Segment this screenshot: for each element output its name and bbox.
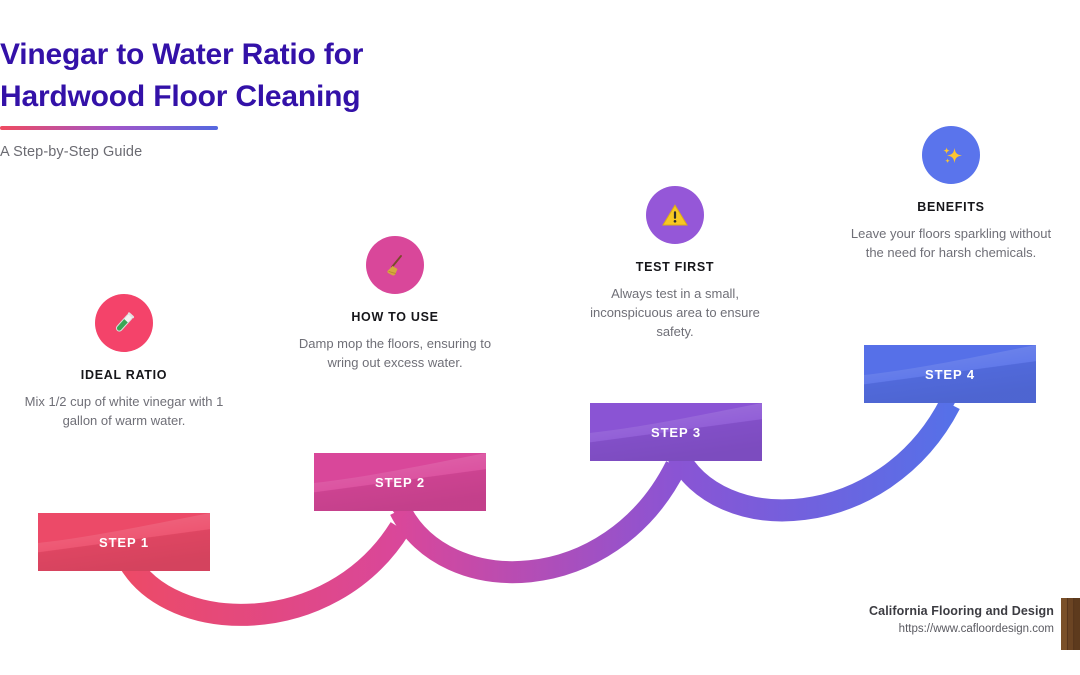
wood-plank-logo	[1058, 595, 1080, 653]
step-banner-3[interactable]: STEP 3	[590, 403, 762, 461]
title-line-2: Hardwood Floor Cleaning	[0, 76, 560, 118]
infographic-canvas: Vinegar to Water Ratio for Hardwood Floo…	[0, 0, 1080, 675]
brand-block: California Flooring and Design https://w…	[869, 604, 1054, 635]
step-banner-2[interactable]: STEP 2	[314, 453, 486, 511]
step-heading-3: TEST FIRST	[560, 260, 790, 274]
test-tube-icon	[95, 294, 153, 352]
step-banner-label-2: STEP 2	[375, 475, 425, 490]
step-banner-4[interactable]: STEP 4	[864, 345, 1036, 403]
title-line-1: Vinegar to Water Ratio for	[0, 34, 560, 76]
page-subtitle: A Step-by-Step Guide	[0, 144, 142, 160]
page-title: Vinegar to Water Ratio for Hardwood Floo…	[0, 34, 560, 118]
step-banner-1[interactable]: STEP 1	[38, 513, 210, 571]
brand-url[interactable]: https://www.cafloordesign.com	[869, 623, 1054, 635]
step-heading-2: HOW TO USE	[280, 310, 510, 324]
step-banner-label-1: STEP 1	[99, 535, 149, 550]
step-column-4: BENEFITS Leave your floors sparkling wit…	[836, 126, 1066, 262]
step-heading-4: BENEFITS	[836, 200, 1066, 214]
step-description-2: Damp mop the floors, ensuring to wring o…	[280, 334, 510, 372]
step-description-3: Always test in a small, inconspicuous ar…	[560, 284, 790, 341]
step-column-3: TEST FIRST Always test in a small, incon…	[560, 186, 790, 341]
step-column-1: IDEAL RATIO Mix 1/2 cup of white vinegar…	[9, 294, 239, 430]
step-description-4: Leave your floors sparkling without the …	[836, 224, 1066, 262]
step-heading-1: IDEAL RATIO	[9, 368, 239, 382]
broom-icon	[366, 236, 424, 294]
title-accent-rule	[0, 126, 218, 130]
step-banner-label-3: STEP 3	[651, 425, 701, 440]
step-description-1: Mix 1/2 cup of white vinegar with 1 gall…	[9, 392, 239, 430]
warning-triangle-icon	[646, 186, 704, 244]
brand-name: California Flooring and Design	[869, 604, 1054, 618]
step-banner-label-4: STEP 4	[925, 367, 975, 382]
sparkles-icon	[922, 126, 980, 184]
step-column-2: HOW TO USE Damp mop the floors, ensuring…	[280, 236, 510, 372]
